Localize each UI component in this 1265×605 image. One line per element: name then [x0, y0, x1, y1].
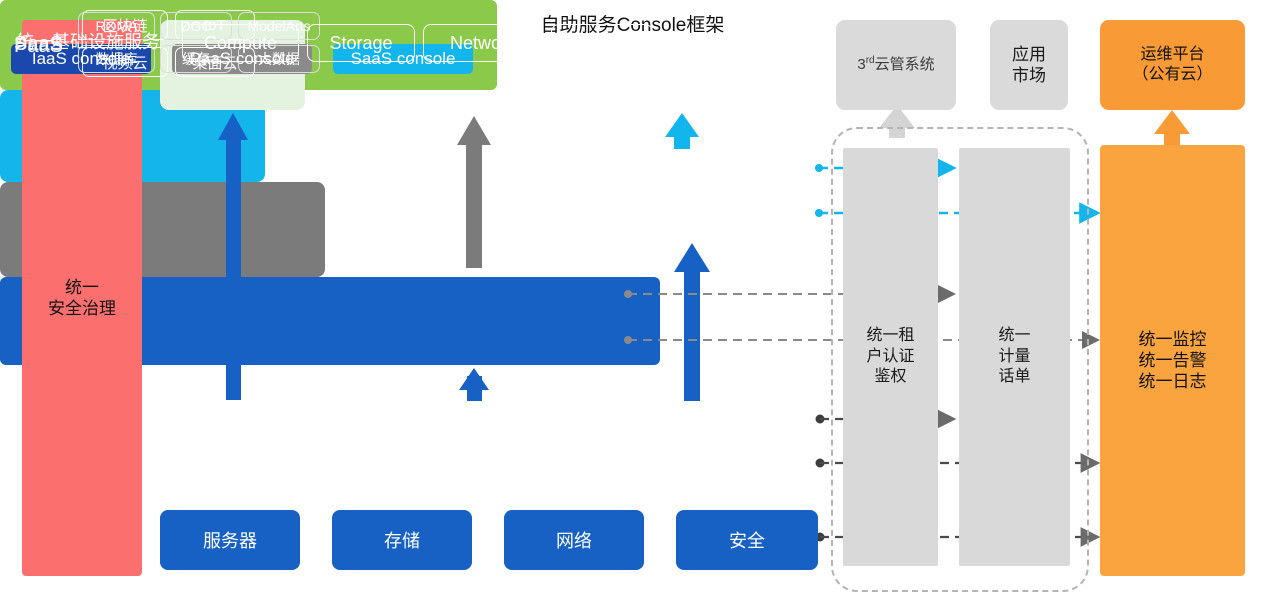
arrow-paas-to-console: [457, 116, 491, 268]
third-party-cloud-management-box: 3rd云管系统: [836, 20, 956, 110]
metering-line2: 计量: [998, 348, 1030, 365]
unified-metering-bar: 统一 计量 话单: [959, 148, 1070, 566]
arrow-infra-to-paas: [459, 368, 489, 401]
ops-col-line2: 统一告警: [1139, 351, 1207, 370]
ops-col-line1: 统一监控: [1139, 330, 1207, 349]
ops-platform-public-cloud-box: 运维平台 （公有云）: [1100, 20, 1245, 110]
infra-chip-network[interactable]: Network: [423, 24, 543, 62]
arrow-infra-to-saas: [674, 243, 710, 401]
metering-line3: 话单: [998, 368, 1030, 385]
metering-line1: 统一: [998, 327, 1030, 344]
arrow-saas-to-console: [665, 113, 699, 149]
unified-security-governance-column: 统一 安全治理: [22, 20, 142, 576]
hardware-box-network[interactable]: 网络: [504, 510, 644, 570]
arrow-ops-column-to-ops-platform: [1154, 110, 1190, 146]
security-line2: 安全治理: [48, 299, 116, 318]
architecture-diagram: 统一租 户认证 鉴权 统一 计量 话单 统一 安全治理 API网关 自助服务Co…: [0, 0, 1265, 605]
hardware-box-server[interactable]: 服务器: [160, 510, 300, 570]
infra-chip-storage[interactable]: Storage: [307, 24, 415, 62]
app-market-line2: 市场: [1012, 66, 1046, 85]
hardware-box-security[interactable]: 安全: [676, 510, 818, 570]
auth-line2: 户认证: [866, 348, 914, 365]
unified-tenant-auth-bar: 统一租 户认证 鉴权: [843, 148, 938, 566]
infra-chip-compute[interactable]: Compute: [182, 24, 299, 62]
ops-top-line1: 运维平台: [1140, 46, 1204, 63]
third-cloud-rest: 云管系统: [875, 56, 935, 73]
auth-line1: 统一租: [866, 327, 914, 344]
auth-line3: 鉴权: [874, 368, 906, 385]
third-cloud-sup: rd: [866, 55, 875, 66]
security-line1: 统一: [65, 278, 99, 297]
ops-top-line2: （公有云）: [1132, 66, 1212, 83]
third-cloud-prefix: 3: [857, 56, 865, 73]
infra-chip-cce[interactable]: CCE: [551, 24, 653, 62]
infrastructure-band-label: 统一基础设施服务: [16, 28, 160, 54]
hardware-box-storage[interactable]: 存储: [332, 510, 472, 570]
app-market-line1: 应用: [1012, 45, 1046, 64]
unified-monitoring-column: 统一监控 统一告警 统一日志: [1100, 145, 1245, 576]
ops-col-line3: 统一日志: [1139, 372, 1207, 391]
app-market-box: 应用 市场: [990, 20, 1068, 110]
